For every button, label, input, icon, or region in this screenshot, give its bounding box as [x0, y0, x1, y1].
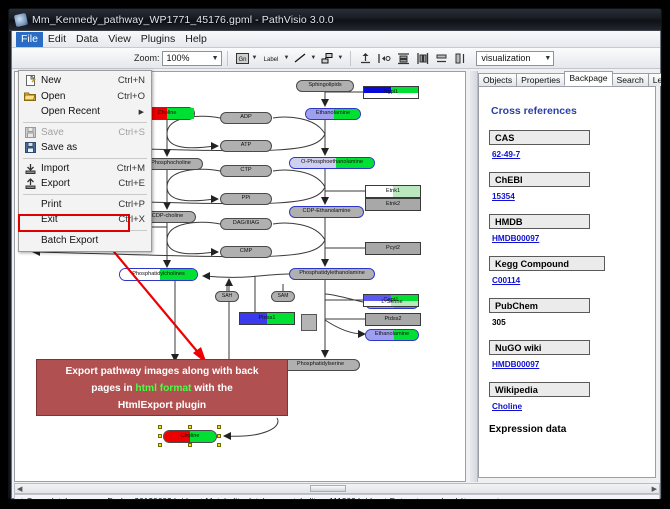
zoom-combobox[interactable]: 100% ▼	[162, 51, 222, 66]
svg-text:Gn: Gn	[238, 57, 246, 63]
menubar-item-edit[interactable]: Edit	[43, 32, 71, 47]
statusbar-divider-2: |	[381, 496, 389, 500]
stack-center-icon[interactable]	[414, 50, 431, 67]
menu-item-label: Save	[41, 127, 118, 138]
menu-item-open[interactable]: Open Ctrl+O	[19, 89, 151, 105]
menu-item-new[interactable]: New Ctrl+N	[19, 73, 151, 89]
scroll-right-arrow-icon[interactable]: ▶	[650, 485, 659, 493]
menu-item-accel: Ctrl+N	[118, 75, 151, 86]
xref-link-wikipedia[interactable]: Choline	[492, 402, 655, 411]
menu-item-save: Save Ctrl+S	[19, 125, 151, 141]
save-icon	[19, 127, 41, 138]
common-width-icon[interactable]	[433, 50, 450, 67]
annotation-line-2a: pages in	[91, 383, 135, 394]
application-body: File Edit Data View Plugins Help Zoom: 1…	[11, 31, 661, 499]
pathvisio-icon	[14, 12, 28, 26]
window-titlebar: Mm_Kennedy_pathway_WP1771_45176.gpml - P…	[9, 9, 662, 31]
menu-item-label: New	[41, 75, 118, 86]
datanode-dropdown-icon[interactable]: ▼	[252, 55, 258, 61]
xref-header-hmdb: HMDB	[489, 214, 590, 229]
shape-tool-icon[interactable]	[319, 50, 336, 67]
menubar-item-help[interactable]: Help	[180, 32, 212, 47]
tab-backpage[interactable]: Backpage	[564, 71, 612, 86]
tab-legend[interactable]: Legend	[648, 73, 662, 86]
menu-item-accel: Ctrl+P	[118, 199, 151, 210]
annotation-line-2b: with the	[191, 383, 232, 394]
tab-objects[interactable]: Objects	[478, 73, 517, 86]
menu-item-save-as[interactable]: Save as	[19, 140, 151, 156]
annotation-line-3: HtmlExport plugin	[37, 397, 287, 414]
menu-item-export[interactable]: Export Ctrl+E	[19, 176, 151, 192]
xref-value-pubchem: 305	[492, 318, 655, 327]
align-left-icon[interactable]	[376, 50, 393, 67]
window-title: Mm_Kennedy_pathway_WP1771_45176.gpml - P…	[32, 14, 334, 26]
menu-item-label: Open Recent	[41, 106, 139, 117]
zoom-label: Zoom:	[134, 53, 160, 63]
chevron-right-icon: ▶	[139, 108, 151, 116]
selection-handles[interactable]	[158, 425, 222, 448]
menu-item-accel: Ctrl+M	[117, 163, 151, 174]
annotation-line-1: Export pathway images along with back	[37, 363, 287, 380]
statusbar: | Gene database: ...m_Derby_20120602.bri…	[14, 494, 660, 500]
annotation-line-2: pages in html format with the	[37, 380, 287, 397]
zoom-value: 100%	[167, 53, 190, 63]
menu-item-accel: Ctrl+O	[117, 91, 151, 102]
statusbar-dataset-label: Dataset:	[390, 496, 421, 500]
line-dropdown-icon[interactable]: ▼	[310, 55, 316, 61]
label-dropdown-icon[interactable]: ▼	[283, 55, 289, 61]
common-height-icon[interactable]	[452, 50, 469, 67]
menu-divider-1	[23, 122, 147, 123]
annotation-callout: Export pathway images along with back pa…	[36, 359, 288, 416]
export-icon	[19, 178, 41, 189]
statusbar-gene-db-label: Gene database:	[26, 496, 86, 500]
xref-link-hmdb[interactable]: HMDB00097	[492, 234, 655, 243]
statusbar-metabolite-db-value: ...tabolites_111203.bridge	[283, 496, 381, 500]
statusbar-dataset-value: ...wnloads\trans-meta.pgex	[421, 496, 525, 500]
datanode-tool-icon[interactable]: Gn	[234, 50, 251, 67]
line-tool-icon[interactable]	[292, 50, 309, 67]
align-top-icon[interactable]	[357, 50, 374, 67]
save-as-icon	[19, 142, 41, 153]
tab-search[interactable]: Search	[612, 73, 649, 86]
menubar-item-file[interactable]: File	[16, 32, 43, 47]
statusbar-metabolite-db-label: Metabolite database:	[205, 496, 283, 500]
label-tool-icon[interactable]: Label	[260, 50, 282, 67]
visualization-value: visualization	[481, 53, 530, 63]
menu-item-batch-export[interactable]: Batch Export	[19, 233, 151, 249]
scrollbar-thumb[interactable]	[310, 485, 346, 492]
application-window: Mm_Kennedy_pathway_WP1771_45176.gpml - P…	[8, 8, 662, 500]
new-file-icon	[19, 75, 41, 86]
chevron-down-icon: ▼	[212, 55, 219, 62]
stack-vertical-icon[interactable]	[395, 50, 412, 67]
xref-link-cas[interactable]: 62-49-7	[492, 150, 655, 159]
xref-header-kegg: Kegg Compound	[489, 256, 605, 271]
statusbar-divider-0: |	[18, 496, 26, 500]
menu-item-print[interactable]: Print Ctrl+P	[19, 197, 151, 213]
menubar-item-view[interactable]: View	[103, 32, 136, 47]
menu-item-accel: Ctrl+E	[118, 178, 151, 189]
menubar-item-plugins[interactable]: Plugins	[136, 32, 180, 47]
menu-item-open-recent[interactable]: Open Recent ▶	[19, 104, 151, 120]
menu-item-accel: Ctrl+S	[118, 127, 151, 138]
menu-item-label: Save as	[41, 142, 145, 153]
xref-link-kegg[interactable]: C00114	[492, 276, 655, 285]
annotation-highlight: html format	[135, 383, 191, 394]
menu-item-label: Batch Export	[41, 235, 151, 246]
statusbar-divider-1: |	[197, 496, 205, 500]
menu-divider-2	[23, 158, 147, 159]
side-panel-splitter[interactable]	[470, 71, 478, 482]
open-folder-icon	[19, 91, 41, 101]
xref-link-nugo[interactable]: HMDB00097	[492, 360, 655, 369]
toolbar-divider-2	[350, 51, 351, 66]
xref-header-chebi: ChEBI	[489, 172, 590, 187]
toolbar: Zoom: 100% ▼ Gn ▼ Label ▼ ▼	[12, 48, 660, 69]
menu-divider-3	[23, 194, 147, 195]
screenshot-root: Mm_Kennedy_pathway_WP1771_45176.gpml - P…	[0, 0, 670, 509]
menu-item-label: Export	[41, 178, 118, 189]
toolbar-divider	[227, 51, 228, 66]
visualization-combobox[interactable]: visualization ▼	[476, 51, 554, 66]
menu-item-label: Open	[41, 91, 117, 102]
chevron-down-icon-2: ▼	[544, 55, 551, 62]
menu-item-label: Print	[41, 199, 118, 210]
statusbar-gene-db-value: ...m_Derby_20120602.bridge	[86, 496, 197, 500]
menu-item-import[interactable]: Import Ctrl+M	[19, 161, 151, 177]
svg-text:Label: Label	[264, 57, 279, 63]
xref-header-cas: CAS	[489, 130, 590, 145]
xref-link-chebi[interactable]: 15354	[492, 192, 655, 201]
side-panel: Objects Properties Backpage Search Legen…	[470, 71, 660, 482]
xref-header-wikipedia: Wikipedia	[489, 382, 590, 397]
scroll-left-arrow-icon[interactable]: ◀	[15, 485, 24, 493]
menubar: File Edit Data View Plugins Help	[12, 31, 660, 48]
menubar-item-data[interactable]: Data	[71, 32, 103, 47]
batch-export-highlight-box	[18, 214, 130, 232]
horizontal-scrollbar[interactable]: ◀ ▶	[14, 483, 660, 494]
tab-properties[interactable]: Properties	[516, 73, 565, 86]
import-icon	[19, 163, 41, 174]
expression-data-heading: Expression data	[489, 424, 655, 435]
xref-header-pubchem: PubChem	[489, 298, 590, 313]
side-panel-tabs: Objects Properties Backpage Search Legen…	[478, 71, 662, 86]
xref-header-nugo: NuGO wiki	[489, 340, 590, 355]
cross-references-heading: Cross references	[491, 105, 655, 117]
shape-dropdown-icon[interactable]: ▼	[337, 55, 343, 61]
backpage-content: Cross references CAS 62-49-7 ChEBI 15354…	[478, 86, 656, 478]
menu-item-label: Import	[41, 163, 117, 174]
node-anchor-block	[301, 314, 317, 331]
